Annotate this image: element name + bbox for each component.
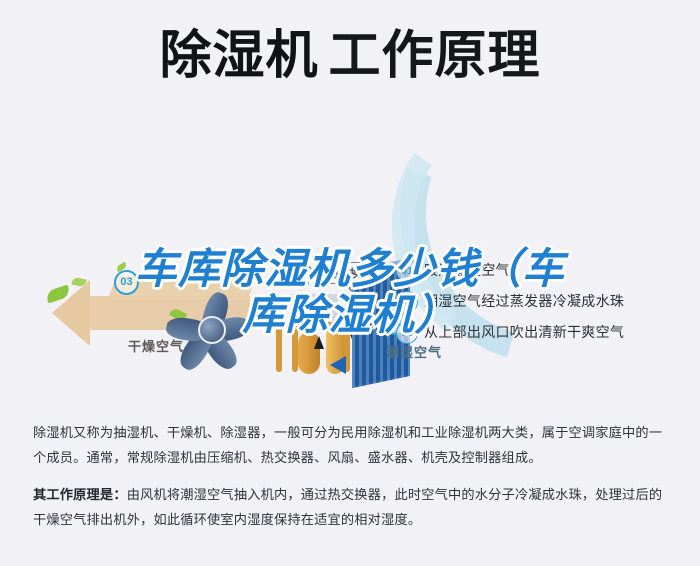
page-title: 除湿机工作原理	[0, 26, 700, 86]
paragraph-2-lead: 其工作原理是：	[33, 487, 127, 502]
watermark-line-1: 车库除湿机多少钱（车	[0, 246, 700, 292]
watermark-line-2: 库除湿机）	[0, 292, 700, 338]
paragraph-2: 其工作原理是：由风机将潮湿空气抽入机内，通过热交换器，此时空气中的水分子冷凝成水…	[33, 482, 669, 532]
paragraph-2-text: 由风机将潮湿空气抽入机内，通过热交换器，此时空气中的水分子冷凝成水珠，处理过后的…	[33, 487, 662, 527]
body-copy: 除湿机又称为抽湿机、干燥机、除湿器，一般可分为民用除湿机和工业除湿机两大类，属于…	[33, 420, 669, 544]
watermark-overlay-text: 车库除湿机多少钱（车 库除湿机）	[0, 246, 700, 338]
infographic-page: 除湿机工作原理 03 干燥空气	[0, 0, 700, 566]
paragraph-1: 除湿机又称为抽湿机、干燥机、除湿器，一般可分为民用除湿机和工业除湿机两大类，属于…	[33, 420, 669, 470]
title-part-2: 工作原理	[329, 27, 541, 85]
evaporator-outlet-arrow-icon	[330, 356, 346, 374]
title-part-1: 除湿机	[159, 27, 318, 85]
